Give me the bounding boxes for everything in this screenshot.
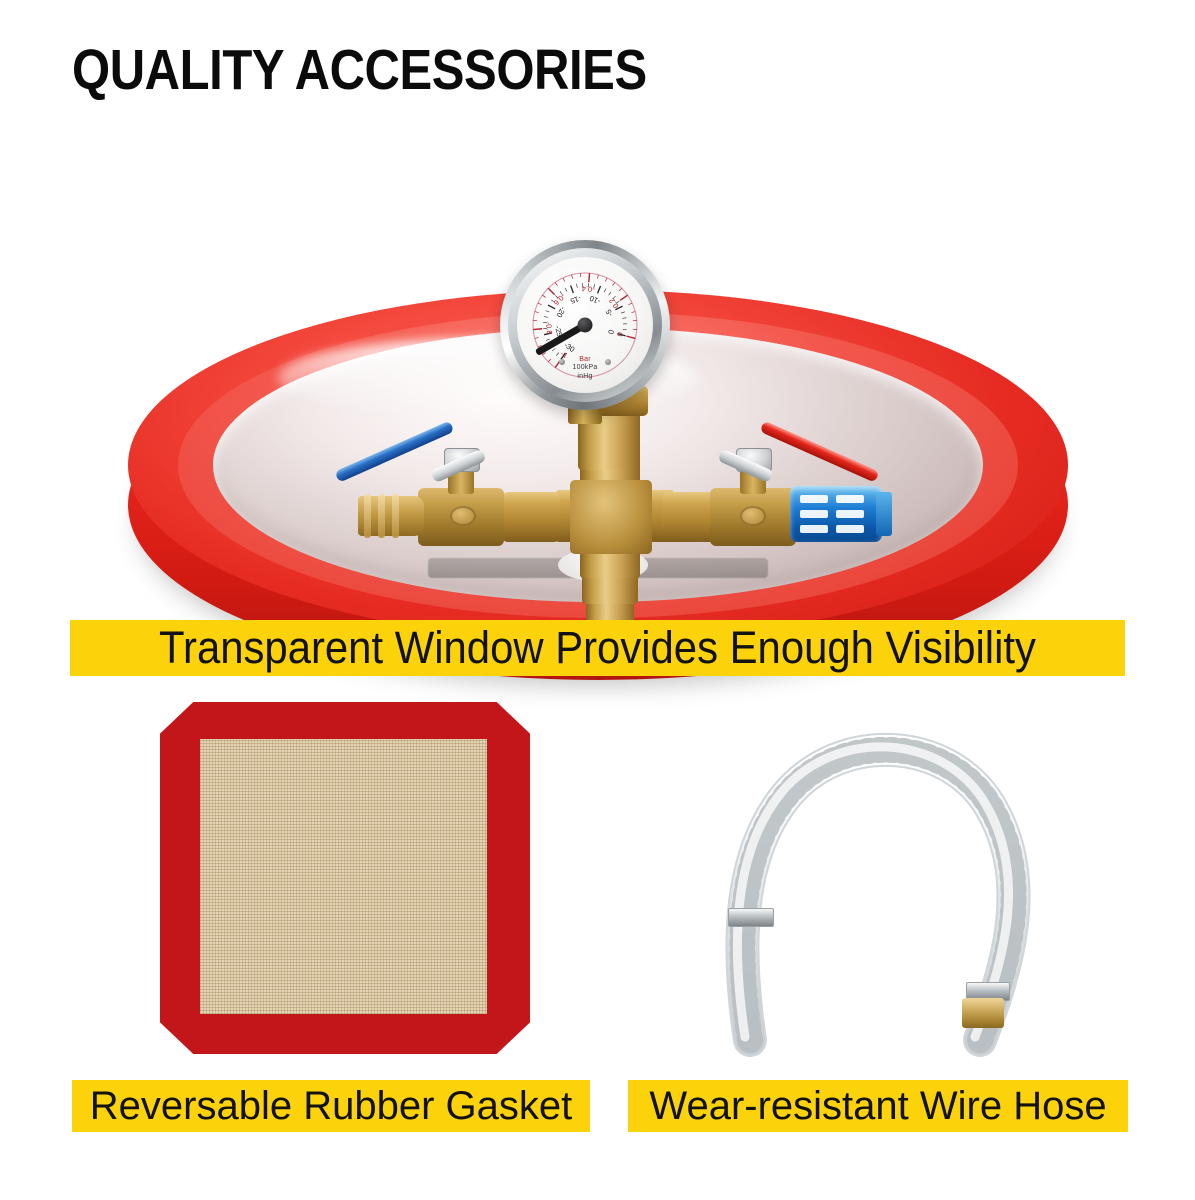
gauge-unit-bar: Bar bbox=[517, 356, 653, 365]
cross-fitting-center bbox=[570, 480, 652, 554]
gauge-unit-inhg: inHg bbox=[517, 373, 653, 382]
gauge-unit-kpa: 100kPa bbox=[517, 364, 653, 373]
svg-text:0: 0 bbox=[615, 331, 625, 337]
vacuum-pressure-gauge: -1-0.8-0.6-0.4-0.20 -30-25-20-15-10-50 B… bbox=[500, 240, 670, 415]
valve-stamp-left bbox=[450, 506, 476, 526]
hose-brass-fitting bbox=[962, 998, 1004, 1028]
gauge-needle-hub bbox=[578, 318, 593, 333]
svg-text:-10: -10 bbox=[588, 294, 601, 306]
wire-reinforced-hose bbox=[690, 710, 1060, 1060]
page-title: QUALITY ACCESSORIES bbox=[72, 42, 647, 99]
banner-gasket-label: Reversable Rubber Gasket bbox=[90, 1084, 572, 1129]
blue-muffler bbox=[790, 486, 882, 542]
gauge-face: -1-0.8-0.6-0.4-0.20 -30-25-20-15-10-50 B… bbox=[517, 257, 653, 393]
svg-text:-20: -20 bbox=[555, 305, 568, 319]
svg-text:0: 0 bbox=[606, 329, 616, 335]
hose-svg bbox=[690, 710, 1060, 1060]
banner-hose-label: Wear-resistant Wire Hose bbox=[649, 1084, 1106, 1129]
brass-coupler-left bbox=[502, 492, 560, 542]
svg-text:-15: -15 bbox=[569, 293, 582, 305]
banner-wire-hose: Wear-resistant Wire Hose bbox=[628, 1080, 1128, 1132]
valve-stamp-right bbox=[740, 506, 766, 526]
brass-valve-assembly bbox=[410, 408, 880, 638]
reversable-rubber-gasket bbox=[160, 702, 530, 1054]
hero-product-image: -1-0.8-0.6-0.4-0.20 -30-25-20-15-10-50 B… bbox=[0, 110, 1195, 610]
banner-main-label: Transparent Window Provides Enough Visib… bbox=[159, 622, 1036, 674]
muffler-end-cap bbox=[876, 492, 892, 536]
brass-hose-barb bbox=[358, 496, 424, 536]
gauge-units-text: Bar 100kPa inHg bbox=[517, 356, 653, 382]
banner-rubber-gasket: Reversable Rubber Gasket bbox=[72, 1080, 590, 1132]
svg-text:-0.8: -0.8 bbox=[544, 321, 554, 335]
hose-clamp-left bbox=[728, 908, 774, 927]
svg-text:-0.4: -0.4 bbox=[581, 284, 595, 294]
gasket-mesh-surface bbox=[200, 739, 487, 1014]
banner-transparent-window: Transparent Window Provides Enough Visib… bbox=[70, 620, 1125, 676]
valve-handle-red[interactable] bbox=[760, 421, 880, 483]
